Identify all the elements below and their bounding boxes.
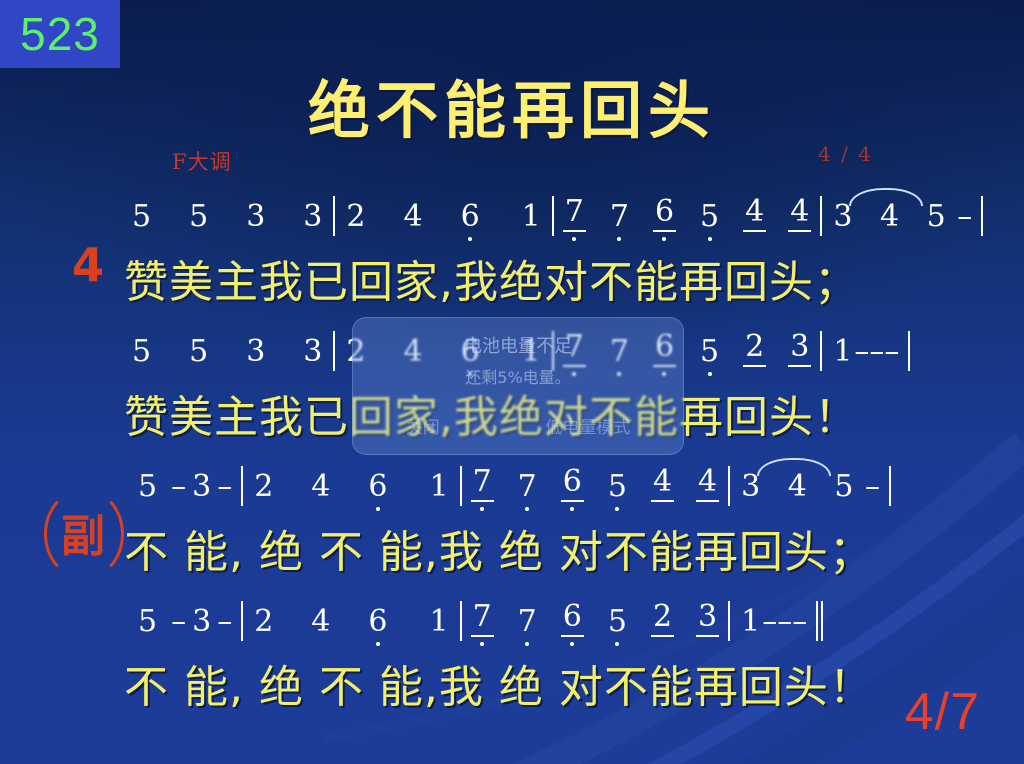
note-low-octave: 5	[606, 472, 629, 502]
song-title: 绝不能再回头	[0, 60, 1024, 150]
barline	[728, 466, 730, 506]
time-signature-label: 4 / 4	[818, 142, 873, 166]
barline	[241, 601, 243, 641]
chorus-marker: 副	[44, 498, 120, 564]
barline	[552, 196, 554, 236]
battery-notification-actions: 关闭 低电量模式	[353, 413, 683, 438]
barline	[241, 466, 243, 506]
key-signature-label: F大调	[172, 146, 232, 176]
note-dash: –	[217, 607, 232, 637]
note: 1	[427, 472, 450, 502]
lyrics-line-3: 不 能, 绝 不 能,我 绝 对不能再回头；	[0, 516, 1024, 580]
note-eighth: 3	[788, 332, 811, 367]
barline	[908, 331, 910, 371]
notation-system-1: 5 5 3 3 2 4 6 1 7 7 6 5 4 4 3 4 5 –	[0, 192, 1024, 310]
note: 5	[832, 472, 855, 502]
note: 1	[739, 607, 762, 637]
note-dash: –	[854, 337, 869, 367]
note-eighth-low: 6	[561, 602, 584, 637]
barline	[728, 601, 730, 641]
note: 5	[130, 202, 153, 232]
note-dash: –	[777, 607, 792, 637]
note-low-octave: 7	[516, 607, 539, 637]
note: 3	[831, 202, 854, 232]
barline	[333, 196, 335, 236]
note-dash: –	[171, 607, 186, 637]
note-dash: –	[217, 472, 232, 502]
lyrics-line-1: 赞美主我已回家,我绝对不能再回头；	[0, 246, 1024, 310]
note: 3	[739, 472, 762, 502]
notation-system-3: 5 – 3 – 2 4 6 1 7 7 6 5 4 4 3 4 5 –	[0, 462, 1024, 580]
note-dash: –	[171, 472, 186, 502]
notation-system-4: 5 – 3 – 2 4 6 1 7 7 6 5 2 3 1 – – – 不 能,…	[0, 597, 1024, 715]
note: 3	[244, 202, 267, 232]
note-eighth-low: 7	[471, 602, 494, 637]
notation-row-1: 5 5 3 3 2 4 6 1 7 7 6 5 4 4 3 4 5 –	[0, 192, 1024, 232]
slide-number-badge: 523	[0, 0, 120, 68]
note-low-octave: 5	[698, 337, 721, 367]
battery-low-notification[interactable]: 电池电量不足 还剩5%电量。 关闭 低电量模式	[352, 317, 684, 455]
note: 2	[252, 472, 275, 502]
note-eighth: 4	[743, 197, 766, 232]
note: 5	[136, 472, 159, 502]
note-eighth-low: 7	[471, 467, 494, 502]
note: 2	[252, 607, 275, 637]
note-eighth: 2	[651, 602, 674, 637]
note: 1	[427, 607, 450, 637]
note-low-octave: 6	[459, 202, 482, 232]
note-dash: –	[957, 202, 972, 232]
note-eighth: 4	[696, 467, 719, 502]
battery-notification-title: 电池电量不足	[353, 332, 683, 358]
note: 1	[520, 202, 543, 232]
note: 4	[309, 472, 332, 502]
note-eighth-low: 6	[561, 467, 584, 502]
barline	[820, 196, 822, 236]
barline	[460, 466, 462, 506]
note: 3	[244, 337, 267, 367]
note-low-octave: 5	[698, 202, 721, 232]
final-barline	[816, 601, 818, 641]
note-dash: –	[865, 472, 880, 502]
note-eighth-low: 7	[563, 197, 586, 232]
tie-group: 3 4 5 –	[831, 202, 972, 232]
note-dash: –	[869, 337, 884, 367]
note-eighth: 2	[743, 332, 766, 367]
note: 3	[190, 472, 213, 502]
note: 5	[925, 202, 948, 232]
note: 4	[878, 202, 901, 232]
note: 4	[786, 472, 809, 502]
note-low-octave: 5	[606, 607, 629, 637]
note-eighth: 3	[696, 602, 719, 637]
note-eighth: 4	[651, 467, 674, 502]
note-low-octave: 6	[366, 607, 389, 637]
note-dash: –	[884, 337, 899, 367]
barline	[460, 601, 462, 641]
note: 4	[401, 202, 424, 232]
barline	[820, 331, 822, 371]
tie-group: 3 4 5 –	[739, 472, 880, 502]
note: 5	[136, 607, 159, 637]
note: 1	[831, 337, 854, 367]
note: 2	[344, 202, 367, 232]
note-dash: –	[792, 607, 807, 637]
slide-number-text: 523	[20, 11, 100, 57]
note-dash: –	[762, 607, 777, 637]
barline	[333, 331, 335, 371]
dismiss-button[interactable]: 关闭	[406, 413, 440, 438]
note-eighth-low: 6	[653, 197, 676, 232]
presentation-slide: 523 绝不能再回头 F大调 4 / 4 5 5 3 3 2 4 6 1 7 7…	[0, 0, 1024, 764]
note-low-octave: 6	[366, 472, 389, 502]
notation-row-4: 5 – 3 – 2 4 6 1 7 7 6 5 2 3 1 – – –	[0, 597, 1024, 637]
note-low-octave: 7	[608, 202, 631, 232]
verse-number-marker: 4	[72, 238, 104, 292]
note: 5	[130, 337, 153, 367]
note: 5	[187, 202, 210, 232]
note: 3	[301, 202, 324, 232]
barline	[981, 196, 983, 236]
notation-row-3: 5 – 3 – 2 4 6 1 7 7 6 5 4 4 3 4 5 –	[0, 462, 1024, 502]
lyrics-line-4: 不 能, 绝 不 能,我 绝 对不能再回头！	[0, 651, 1024, 715]
note: 5	[187, 337, 210, 367]
chorus-marker-text: 副	[61, 500, 105, 564]
barline	[889, 466, 891, 506]
note: 3	[190, 607, 213, 637]
low-power-mode-button[interactable]: 低电量模式	[545, 413, 630, 438]
note-eighth: 4	[788, 197, 811, 232]
note-low-octave: 7	[516, 472, 539, 502]
page-indicator: 4/7	[905, 682, 980, 742]
battery-notification-subtitle: 还剩5%电量。	[353, 364, 683, 388]
note: 3	[301, 337, 324, 367]
note: 4	[309, 607, 332, 637]
